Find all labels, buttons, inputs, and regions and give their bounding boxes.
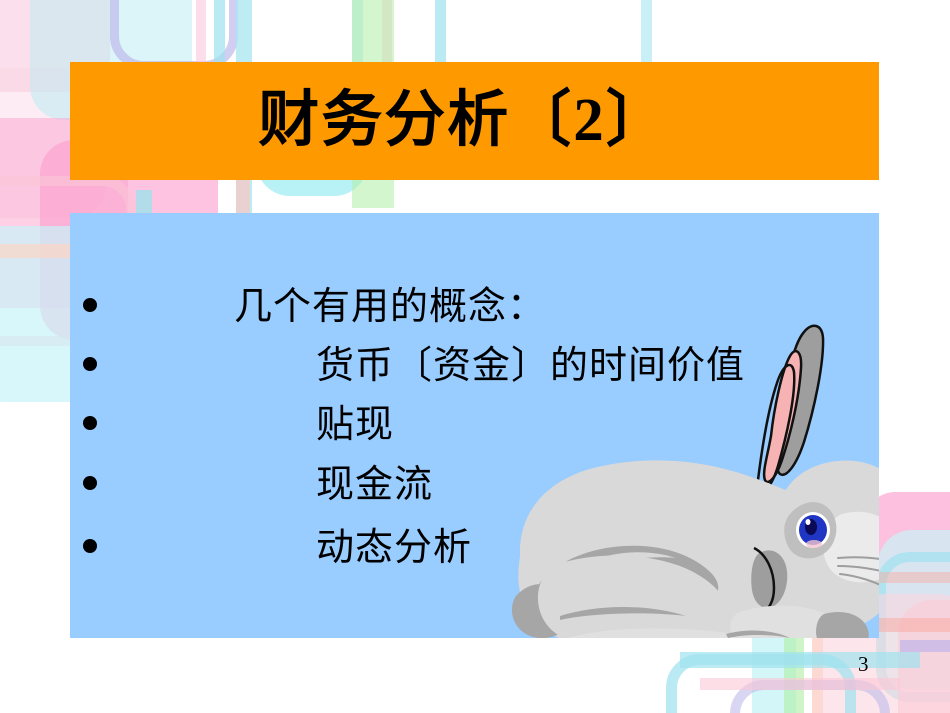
deco-rounded-rect-outline xyxy=(730,680,890,713)
bullet-dot-icon xyxy=(83,357,97,371)
deco-horizontal-bar xyxy=(900,640,950,652)
content-panel: 几个有用的概念： 货币〔资金〕的时间价值 贴现 现金流 动态分析 xyxy=(70,213,879,638)
deco-rounded-rect-outline xyxy=(876,552,950,702)
deco-rounded-rect-outline xyxy=(110,0,238,70)
list-item-label: 贴现 xyxy=(316,399,394,451)
bullet-dot-icon xyxy=(83,298,97,312)
bullet-dot-icon xyxy=(83,539,97,553)
title-banner: 财务分析〔2〕 xyxy=(70,62,879,180)
list-item-label: 现金流 xyxy=(316,459,433,511)
rabbit-illustration xyxy=(490,308,879,638)
list-item-label: 动态分析 xyxy=(316,522,472,574)
deco-rounded-rect xyxy=(878,530,950,690)
slide-canvas: 财务分析〔2〕 几个有用的概念： 货币〔资金〕的时间价值 贴现 现金流 动态分析 xyxy=(0,0,950,713)
bullet-dot-icon xyxy=(83,416,97,430)
page-title: 财务分析〔2〕 xyxy=(258,90,669,151)
bullet-dot-icon xyxy=(83,476,97,490)
page-number: 3 xyxy=(858,652,869,677)
deco-rounded-rect xyxy=(898,600,950,713)
deco-horizontal-bar xyxy=(680,652,920,668)
deco-rounded-rect-outline xyxy=(666,654,856,713)
deco-horizontal-bar xyxy=(700,678,900,690)
